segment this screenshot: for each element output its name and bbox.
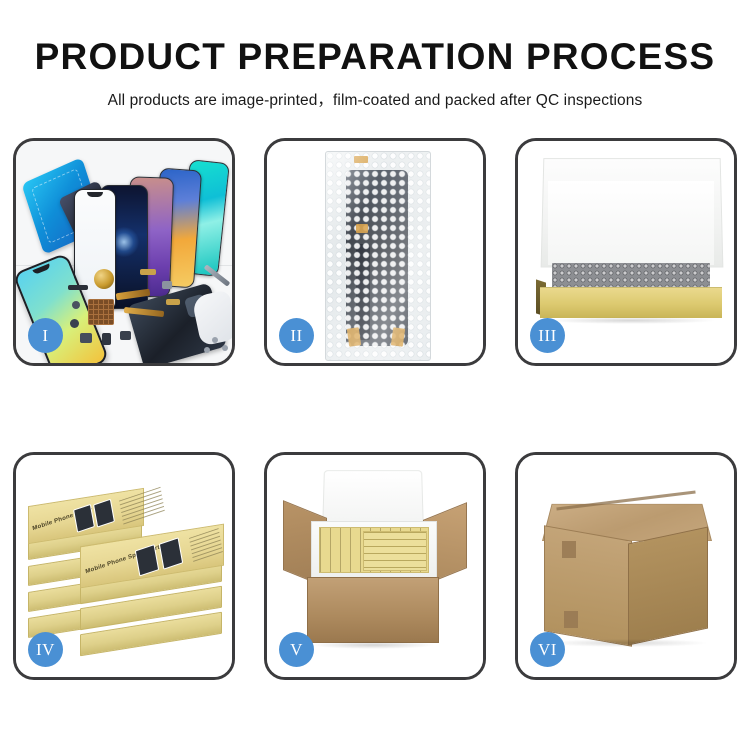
bubble-wrap-bag-graphic [325, 151, 431, 361]
process-step-grid: I II III [13, 138, 737, 680]
carton-left-panel-graphic [544, 525, 632, 647]
box-front-panel-graphic [540, 287, 722, 318]
speaker-coil-graphic [94, 269, 114, 289]
bubble-foam-pad-graphic [552, 263, 710, 289]
step-badge-6: VI [530, 632, 565, 667]
chip-grid-graphic [88, 299, 114, 325]
process-step-2[interactable]: II [264, 138, 486, 366]
process-step-6[interactable]: VI [515, 452, 737, 680]
step-badge-4: IV [28, 632, 63, 667]
page-header: PRODUCT PREPARATION PROCESS All products… [0, 0, 750, 110]
step-badge-1: I [28, 318, 63, 353]
carton-right-panel-graphic [628, 526, 708, 645]
process-step-5[interactable]: V [264, 452, 486, 680]
carton-tape-graphic [562, 541, 576, 558]
step-badge-2: II [279, 318, 314, 353]
step-badge-3: III [530, 318, 565, 353]
carton-front-panel-graphic [307, 577, 439, 643]
packed-boxes-graphic [363, 531, 427, 571]
process-step-1[interactable]: I [13, 138, 235, 366]
page-title: PRODUCT PREPARATION PROCESS [0, 38, 750, 77]
step-badge-5: V [279, 632, 314, 667]
carton-tape-graphic [564, 611, 578, 628]
process-step-4[interactable]: Mobile Phone Spare Parts Mobile Phone Sp… [13, 452, 235, 680]
foam-insert-graphic [548, 181, 714, 265]
process-step-3[interactable]: III [515, 138, 737, 366]
page-subtitle: All products are image-printed，film-coat… [0, 88, 750, 110]
